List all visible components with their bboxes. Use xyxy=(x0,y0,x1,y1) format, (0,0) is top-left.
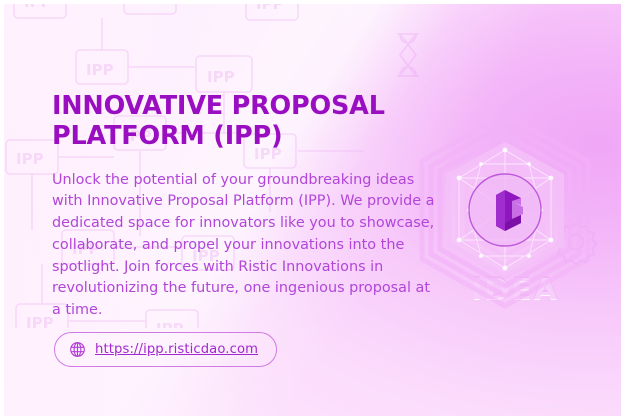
website-url-pill[interactable]: https://ipp.risticdao.com xyxy=(54,332,277,367)
promo-banner: IPP IPP IPP IPP IPP IPP IPP IPP IPP IPP … xyxy=(0,0,625,420)
content-block: Innovative Proposal Platform (IPP) Unloc… xyxy=(52,92,452,322)
website-url-text: https://ipp.risticdao.com xyxy=(95,343,258,356)
hourglass-icon xyxy=(398,34,418,76)
body-paragraph: Unlock the potential of your groundbreak… xyxy=(52,170,437,322)
page-title: Innovative Proposal Platform (IPP) xyxy=(52,92,452,152)
globe-icon xyxy=(69,341,86,358)
banner-canvas: IPP IPP IPP IPP IPP IPP IPP IPP IPP IPP … xyxy=(4,4,621,416)
